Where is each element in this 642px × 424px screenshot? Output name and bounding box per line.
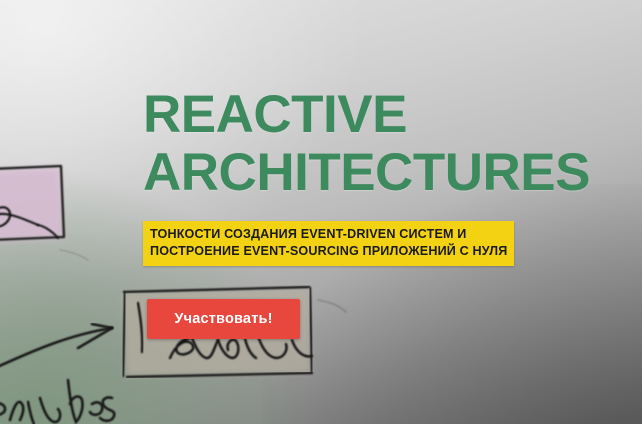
hero-section: REACTIVE ARCHITECTURES ТОНКОСТИ СОЗДАНИЯ… [0, 0, 642, 424]
sketch-arrow [0, 324, 112, 372]
sketch-pink-note [0, 166, 64, 242]
sketch-subscribes-label [0, 380, 114, 424]
hero-content: REACTIVE ARCHITECTURES ТОНКОСТИ СОЗДАНИЯ… [143, 86, 613, 339]
participate-button[interactable]: Участвовать! [147, 299, 300, 339]
subtitle-banner: ТОНКОСТИ СОЗДАНИЯ EVENT-DRIVEN СИСТЕМ И … [143, 221, 514, 266]
page-title: REACTIVE ARCHITECTURES [143, 86, 613, 202]
